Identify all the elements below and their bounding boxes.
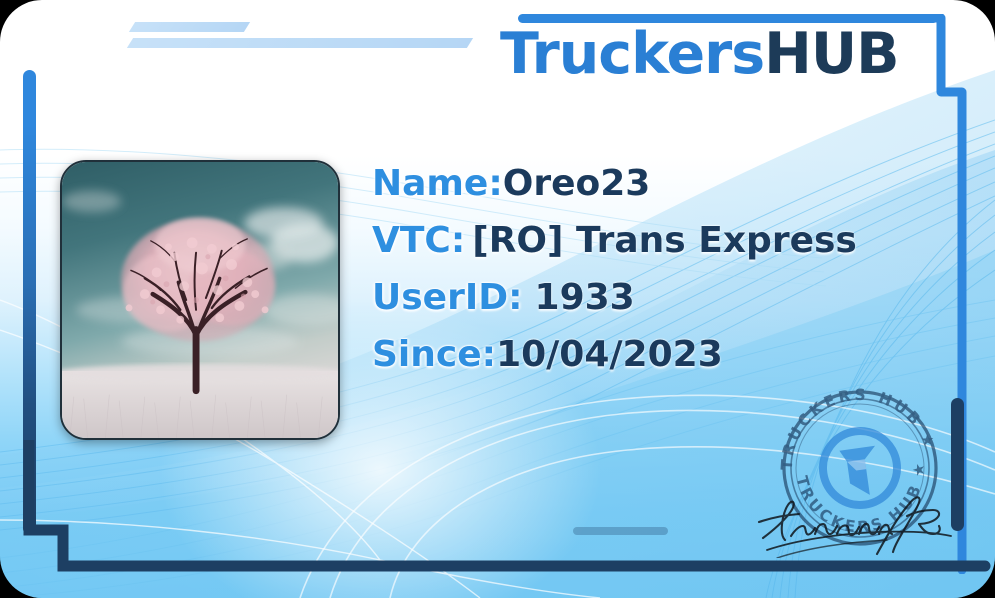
value-userid: 1933 — [535, 277, 635, 318]
value-name: Oreo23 — [503, 163, 651, 204]
brand-logo-hub: HUB — [764, 21, 898, 87]
value-vtc: [RO] Trans Express — [472, 220, 857, 261]
avatar — [60, 160, 340, 440]
decor-bar-top-1 — [129, 22, 250, 32]
brand-logo-truckers: Truckers — [500, 21, 764, 87]
label-name: Name: — [372, 163, 503, 204]
label-userid: UserID: — [372, 277, 523, 318]
value-since: 10/04/2023 — [496, 334, 723, 375]
label-since: Since: — [372, 334, 496, 375]
info-block: Name: Oreo23 VTC: [RO] Trans Express Use… — [372, 163, 972, 391]
info-row-vtc: VTC: [RO] Trans Express — [372, 220, 972, 277]
decor-slate-bar — [573, 527, 668, 535]
label-vtc: VTC: — [372, 220, 465, 261]
brand-logo: TruckersHUB — [500, 26, 899, 83]
info-row-name: Name: Oreo23 — [372, 163, 972, 220]
stamp-signature — [757, 488, 957, 558]
info-row-userid: UserID: 1933 — [372, 277, 972, 334]
id-card: TruckersHUB — [0, 0, 995, 598]
decor-bar-top-2 — [127, 38, 473, 48]
avatar-photo — [62, 162, 338, 438]
